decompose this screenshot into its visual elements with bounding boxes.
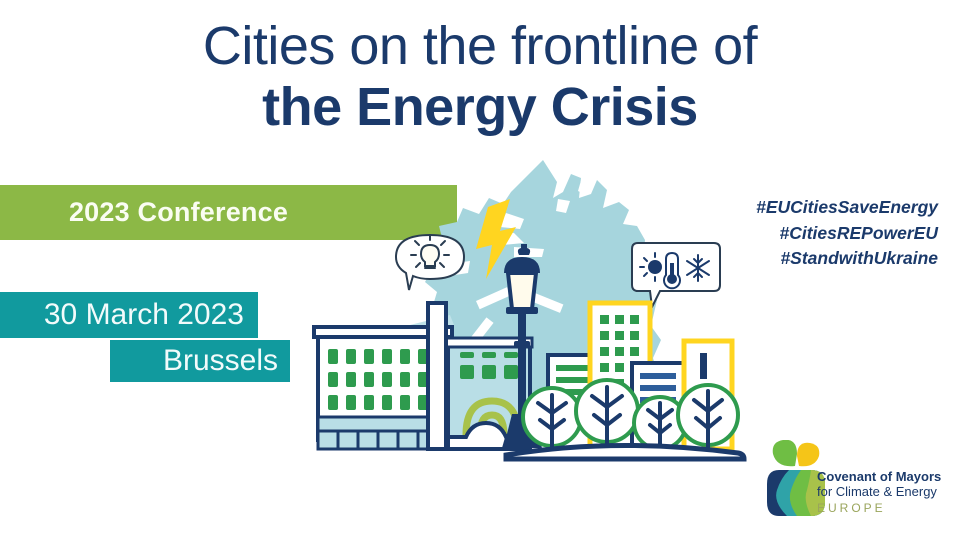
date-banner: 30 March 2023 <box>0 292 258 338</box>
title-line-1: Cities on the frontline of <box>0 18 960 75</box>
city-banner: Brussels <box>110 340 290 382</box>
logo-line-2: for Climate & Energy <box>817 484 941 499</box>
covenant-of-mayors-logo: Covenant of Mayors for Climate & Energy … <box>765 440 955 526</box>
page-title: Cities on the frontline of the Energy Cr… <box>0 18 960 136</box>
poster-canvas: Cities on the frontline of the Energy Cr… <box>0 0 960 540</box>
logo-line-3: EUROPE <box>817 501 941 515</box>
city-skyline-europe-illustration <box>300 155 760 475</box>
date-banner-label: 30 March 2023 <box>44 298 244 332</box>
logo-line-1: Covenant of Mayors <box>817 469 941 484</box>
hashtag-item-2: #CitiesREPowerEU <box>756 221 938 247</box>
city-banner-label: Brussels <box>163 344 278 378</box>
hashtag-item-1: #EUCitiesSaveEnergy <box>756 195 938 221</box>
hashtag-list: #EUCitiesSaveEnergy #CitiesREPowerEU #St… <box>756 195 938 272</box>
conference-banner-label: 2023 Conference <box>69 197 288 228</box>
logo-wordmark: Covenant of Mayors for Climate & Energy … <box>817 469 941 515</box>
hashtag-item-3: #StandwithUkraine <box>756 246 938 272</box>
title-line-2: the Energy Crisis <box>0 79 960 136</box>
